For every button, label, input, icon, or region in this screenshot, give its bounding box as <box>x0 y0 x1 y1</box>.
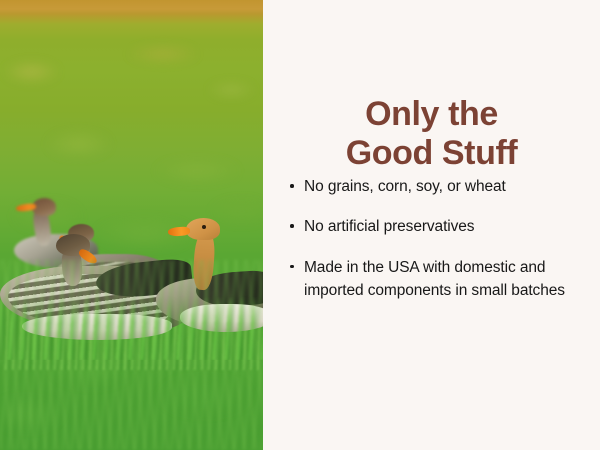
list-item: No artificial preservatives <box>288 215 586 238</box>
benefits-list: No grains, corn, soy, or wheat No artifi… <box>288 175 586 302</box>
bullet-icon <box>290 184 294 188</box>
list-item: Made in the USA with domestic and import… <box>288 256 586 303</box>
headline-line-2: Good Stuff <box>281 134 582 173</box>
copy-panel: Only the Good Stuff No grains, corn, soy… <box>263 0 600 450</box>
list-item: No grains, corn, soy, or wheat <box>288 175 586 198</box>
bullet-icon <box>290 265 294 269</box>
geese-photo-panel <box>0 0 263 450</box>
goose-eye <box>202 225 206 229</box>
benefit-text: Made in the USA with domestic and import… <box>304 259 565 299</box>
benefit-text: No artificial preservatives <box>304 218 474 235</box>
benefit-text: No grains, corn, soy, or wheat <box>304 178 506 195</box>
page-title: Only the Good Stuff <box>263 95 600 174</box>
bullet-icon <box>290 224 294 228</box>
goose-head <box>186 218 220 240</box>
headline-line-1: Only the <box>281 95 582 134</box>
product-benefits-card: Only the Good Stuff No grains, corn, soy… <box>0 0 600 450</box>
grass-blades-foreground <box>0 260 263 450</box>
